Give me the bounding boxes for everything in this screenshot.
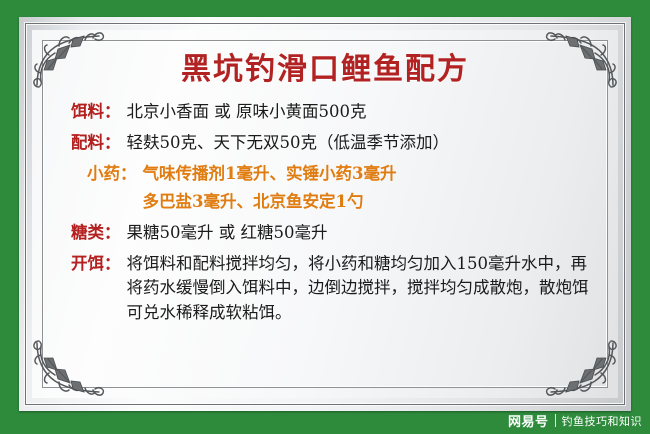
page-title: 黑坑钓滑口鲤鱼配方 [49, 53, 601, 86]
recipe-value-additive-continued: 多巴盐3毫升、北京鱼安定1勺 [137, 190, 596, 214]
recipe-value-method: 将饵料和配料搅拌均匀，将小药和糖均匀加入150毫升水中，再将药水缓慢倒入饵料中，… [121, 252, 596, 326]
recipe-value-ingredients: 轻麸50克、天下无双50克（低温季节添加） [121, 131, 596, 155]
recipe-row-additive-continued: 小药： 多巴盐3毫升、北京鱼安定1勺 [71, 190, 595, 214]
recipe-value-additive: 气味传播剂1毫升、实锤小药3毫升 [137, 162, 596, 186]
poster-canvas: 黑坑钓滑口鲤鱼配方 饵料： 北京小香面 或 原味小黄面500克 配料： 轻麸50… [0, 0, 650, 434]
recipe-value-bait: 北京小香面 或 原味小黄面500克 [121, 100, 596, 124]
recipe-row-method: 开饵： 将饵料和配料搅拌均匀，将小药和糖均匀加入150毫升水中，再将药水缓慢倒入… [71, 252, 595, 326]
recipe-value-sugar: 果糖50毫升 或 红糖50毫升 [121, 221, 596, 245]
silver-plaque-frame: 黑坑钓滑口鲤鱼配方 饵料： 北京小香面 或 原味小黄面500克 配料： 轻麸50… [19, 17, 631, 411]
recipe-row-additive: 小药： 气味传播剂1毫升、实锤小药3毫升 [71, 162, 595, 186]
recipe-row-bait: 饵料： 北京小香面 或 原味小黄面500克 [71, 100, 595, 124]
watermark-divider [555, 414, 556, 427]
watermark-account: 钓鱼技巧和知识 [562, 413, 643, 429]
watermark-brand: 网易号 [508, 411, 549, 430]
watermark: 网易号 钓鱼技巧和知识 [508, 411, 642, 430]
recipe-label-method: 开饵： [71, 252, 121, 276]
recipe-label-bait: 饵料： [71, 100, 121, 124]
recipe-label-sugar: 糖类： [71, 221, 121, 245]
recipe-row-ingredients: 配料： 轻麸50克、天下无双50克（低温季节添加） [71, 131, 595, 155]
recipe-row-sugar: 糖类： 果糖50毫升 或 红糖50毫升 [71, 221, 595, 245]
recipe-row-list: 饵料： 北京小香面 或 原味小黄面500克 配料： 轻麸50克、天下无双50克（… [49, 100, 601, 326]
recipe-content: 黑坑钓滑口鲤鱼配方 饵料： 北京小香面 或 原味小黄面500克 配料： 轻麸50… [49, 41, 601, 393]
recipe-label-additive: 小药： [71, 162, 137, 186]
recipe-label-ingredients: 配料： [71, 131, 121, 155]
